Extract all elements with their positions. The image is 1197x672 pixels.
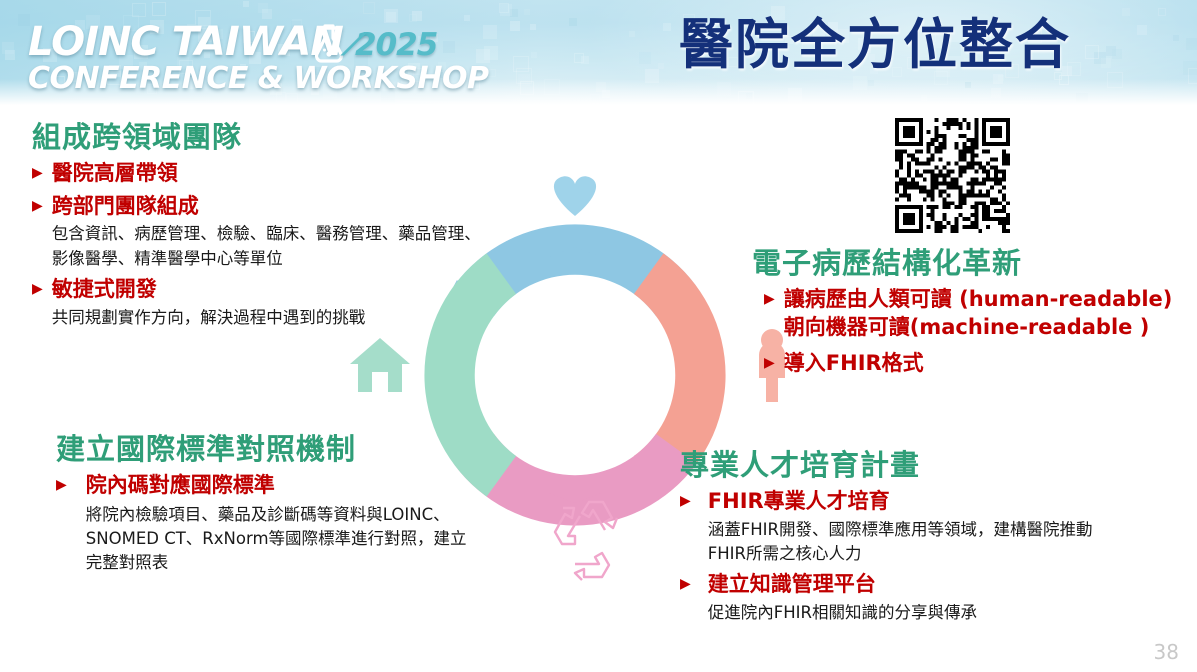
block-team-bullet-0: ▶ 醫院高層帶領	[32, 160, 552, 188]
bullet-label: 院內碼對應國際標準	[86, 472, 467, 500]
bullet-label: 讓病歷由人類可讀 (human-readable) 朝向機器可讀(machine…	[784, 286, 1173, 341]
slide: LOINC TAIWAN ⁄2025 CONFERENCE & WORKSHOP…	[0, 0, 1197, 672]
block-talent-bullet-1: ▶ 建立知識管理平台 促進院內FHIR相關知識的分享與傳承	[680, 571, 1180, 625]
bullet-subtext: 將院內檢驗項目、藥品及診斷碼等資料與LOINC、 SNOMED CT、RxNor…	[86, 503, 467, 576]
bullet-arrow-icon: ▶	[32, 193, 43, 218]
home-icon	[350, 338, 410, 392]
block-talent-bullet-0: ▶ FHIR專業人才培育 涵蓋FHIR開發、國際標準應用等領域，建構醫院推動 F…	[680, 488, 1180, 567]
block-emr-bullet-1: ▶ 導入FHIR格式	[752, 350, 1197, 378]
block-standards-title: 建立國際標準對照機制	[56, 432, 576, 467]
logo-line1: LOINC TAIWAN	[28, 22, 343, 62]
bullet-arrow-icon: ▶	[32, 160, 43, 185]
qr-code[interactable]	[895, 118, 1010, 233]
conference-logo: LOINC TAIWAN ⁄2025 CONFERENCE & WORKSHOP	[28, 22, 489, 94]
bullet-label: 建立知識管理平台	[708, 571, 977, 599]
bullet-arrow-icon: ▶	[764, 286, 775, 311]
bullet-label: 敏捷式開發	[52, 276, 366, 304]
logo-year: ⁄2025	[351, 30, 437, 61]
block-standards-bullet-0: ▶ 院內碼對應國際標準 將院內檢驗項目、藥品及診斷碼等資料與LOINC、 SNO…	[56, 472, 576, 576]
logo-line1-row: LOINC TAIWAN ⁄2025	[28, 22, 489, 62]
block-standards: 建立國際標準對照機制 ▶ 院內碼對應國際標準 將院內檢驗項目、藥品及診斷碼等資料…	[56, 432, 576, 576]
bullet-arrow-icon: ▶	[32, 276, 43, 301]
bullet-subtext: 涵蓋FHIR開發、國際標準應用等領域，建構醫院推動 FHIR所需之核心人力	[708, 518, 1093, 567]
bullet-arrow-icon: ▶	[680, 488, 691, 513]
bullet-subtext: 共同規劃實作方向，解決過程中遇到的挑戰	[52, 306, 366, 330]
block-talent: 專業人才培育計畫 ▶ FHIR專業人才培育 涵蓋FHIR開發、國際標準應用等領域…	[680, 448, 1180, 625]
heart-icon	[554, 176, 596, 216]
bullet-label: FHIR專業人才培育	[708, 488, 1093, 516]
bullet-label: 跨部門團隊組成	[52, 193, 481, 221]
block-team-bullet-2: ▶ 敏捷式開發 共同規劃實作方向，解決過程中遇到的挑戰	[32, 276, 552, 330]
block-talent-title: 專業人才培育計畫	[680, 448, 1180, 483]
block-team-title: 組成跨領域團隊	[32, 120, 552, 155]
page-number: 38	[1154, 640, 1179, 664]
bullet-subtext: 促進院內FHIR相關知識的分享與傳承	[708, 601, 977, 625]
block-team: 組成跨領域團隊 ▶ 醫院高層帶領 ▶ 跨部門團隊組成 包含資訊、病歷管理、檢驗、…	[32, 120, 552, 330]
flask-icon	[312, 23, 346, 63]
block-team-bullet-1: ▶ 跨部門團隊組成 包含資訊、病歷管理、檢驗、臨床、醫務管理、藥品管理、 影像醫…	[32, 193, 552, 272]
bullet-arrow-icon: ▶	[764, 350, 775, 375]
bullet-label: 醫院高層帶領	[52, 160, 178, 188]
block-emr-title: 電子病歷結構化革新	[752, 246, 1197, 281]
bullet-subtext: 包含資訊、病歷管理、檢驗、臨床、醫務管理、藥品管理、 影像醫學、精準醫學中心等單…	[52, 222, 481, 271]
bullet-label: 導入FHIR格式	[784, 350, 924, 378]
qr-code-svg	[895, 118, 1010, 233]
block-emr-bullet-0: ▶ 讓病歷由人類可讀 (human-readable) 朝向機器可讀(machi…	[752, 286, 1197, 341]
page-title: 醫院全方位整合	[640, 16, 1110, 74]
bullet-arrow-icon: ▶	[680, 571, 691, 596]
block-emr: 電子病歷結構化革新 ▶ 讓病歷由人類可讀 (human-readable) 朝向…	[752, 246, 1197, 378]
logo-line2: CONFERENCE & WORKSHOP	[28, 64, 489, 94]
bullet-arrow-icon: ▶	[56, 472, 67, 497]
